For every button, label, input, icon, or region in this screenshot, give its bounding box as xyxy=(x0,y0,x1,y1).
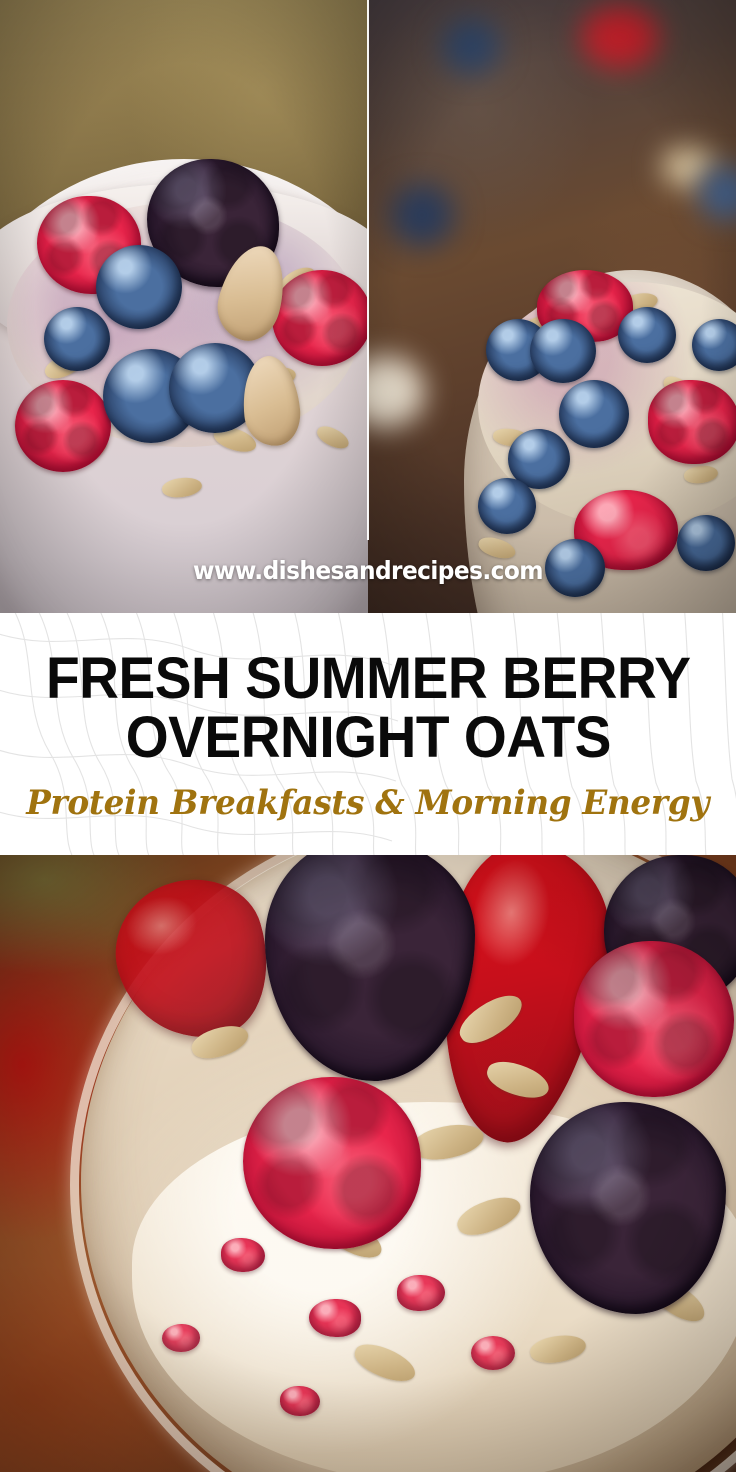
raspberry xyxy=(243,1077,421,1249)
top-right-photo xyxy=(368,0,736,613)
bokeh-blueberry xyxy=(442,18,500,74)
pin-subtitle: Protein Breakfasts & Morning Energy xyxy=(27,783,710,823)
berry-piece xyxy=(280,1386,320,1416)
bottom-photo xyxy=(0,855,736,1472)
top-photo-row xyxy=(0,0,736,613)
berry-texture xyxy=(272,270,368,366)
raspberry xyxy=(574,941,734,1097)
berry-piece xyxy=(309,1299,361,1337)
berry-texture xyxy=(648,380,736,464)
pin-title-line-2: OVERNIGHT OATS xyxy=(125,708,610,767)
bokeh-blueberry xyxy=(390,184,454,246)
blueberry xyxy=(618,307,676,363)
berry-piece xyxy=(162,1324,200,1352)
blueberry xyxy=(96,245,182,329)
raspberry xyxy=(15,380,111,472)
site-url-watermark: www.dishesandrecipes.com xyxy=(26,556,710,585)
berry-texture xyxy=(15,380,111,472)
pin-title-line-1: FRESH SUMMER BERRY xyxy=(46,649,691,708)
photo-divider xyxy=(367,0,369,540)
blueberry xyxy=(530,319,596,383)
berry-texture xyxy=(243,1077,421,1249)
blueberry xyxy=(559,380,629,448)
recipe-pin-graphic: www.dishesandrecipes.com xyxy=(0,0,736,1472)
top-left-photo xyxy=(0,0,368,613)
berry-piece xyxy=(221,1238,265,1272)
berry-texture xyxy=(574,941,734,1097)
berry-piece xyxy=(397,1275,445,1311)
banner-content: FRESH SUMMER BERRY OVERNIGHT OATS Protei… xyxy=(0,613,736,855)
raspberry xyxy=(272,270,368,366)
blueberry xyxy=(44,307,110,371)
title-banner: FRESH SUMMER BERRY OVERNIGHT OATS Protei… xyxy=(0,613,736,855)
strawberry-slice xyxy=(648,380,736,464)
